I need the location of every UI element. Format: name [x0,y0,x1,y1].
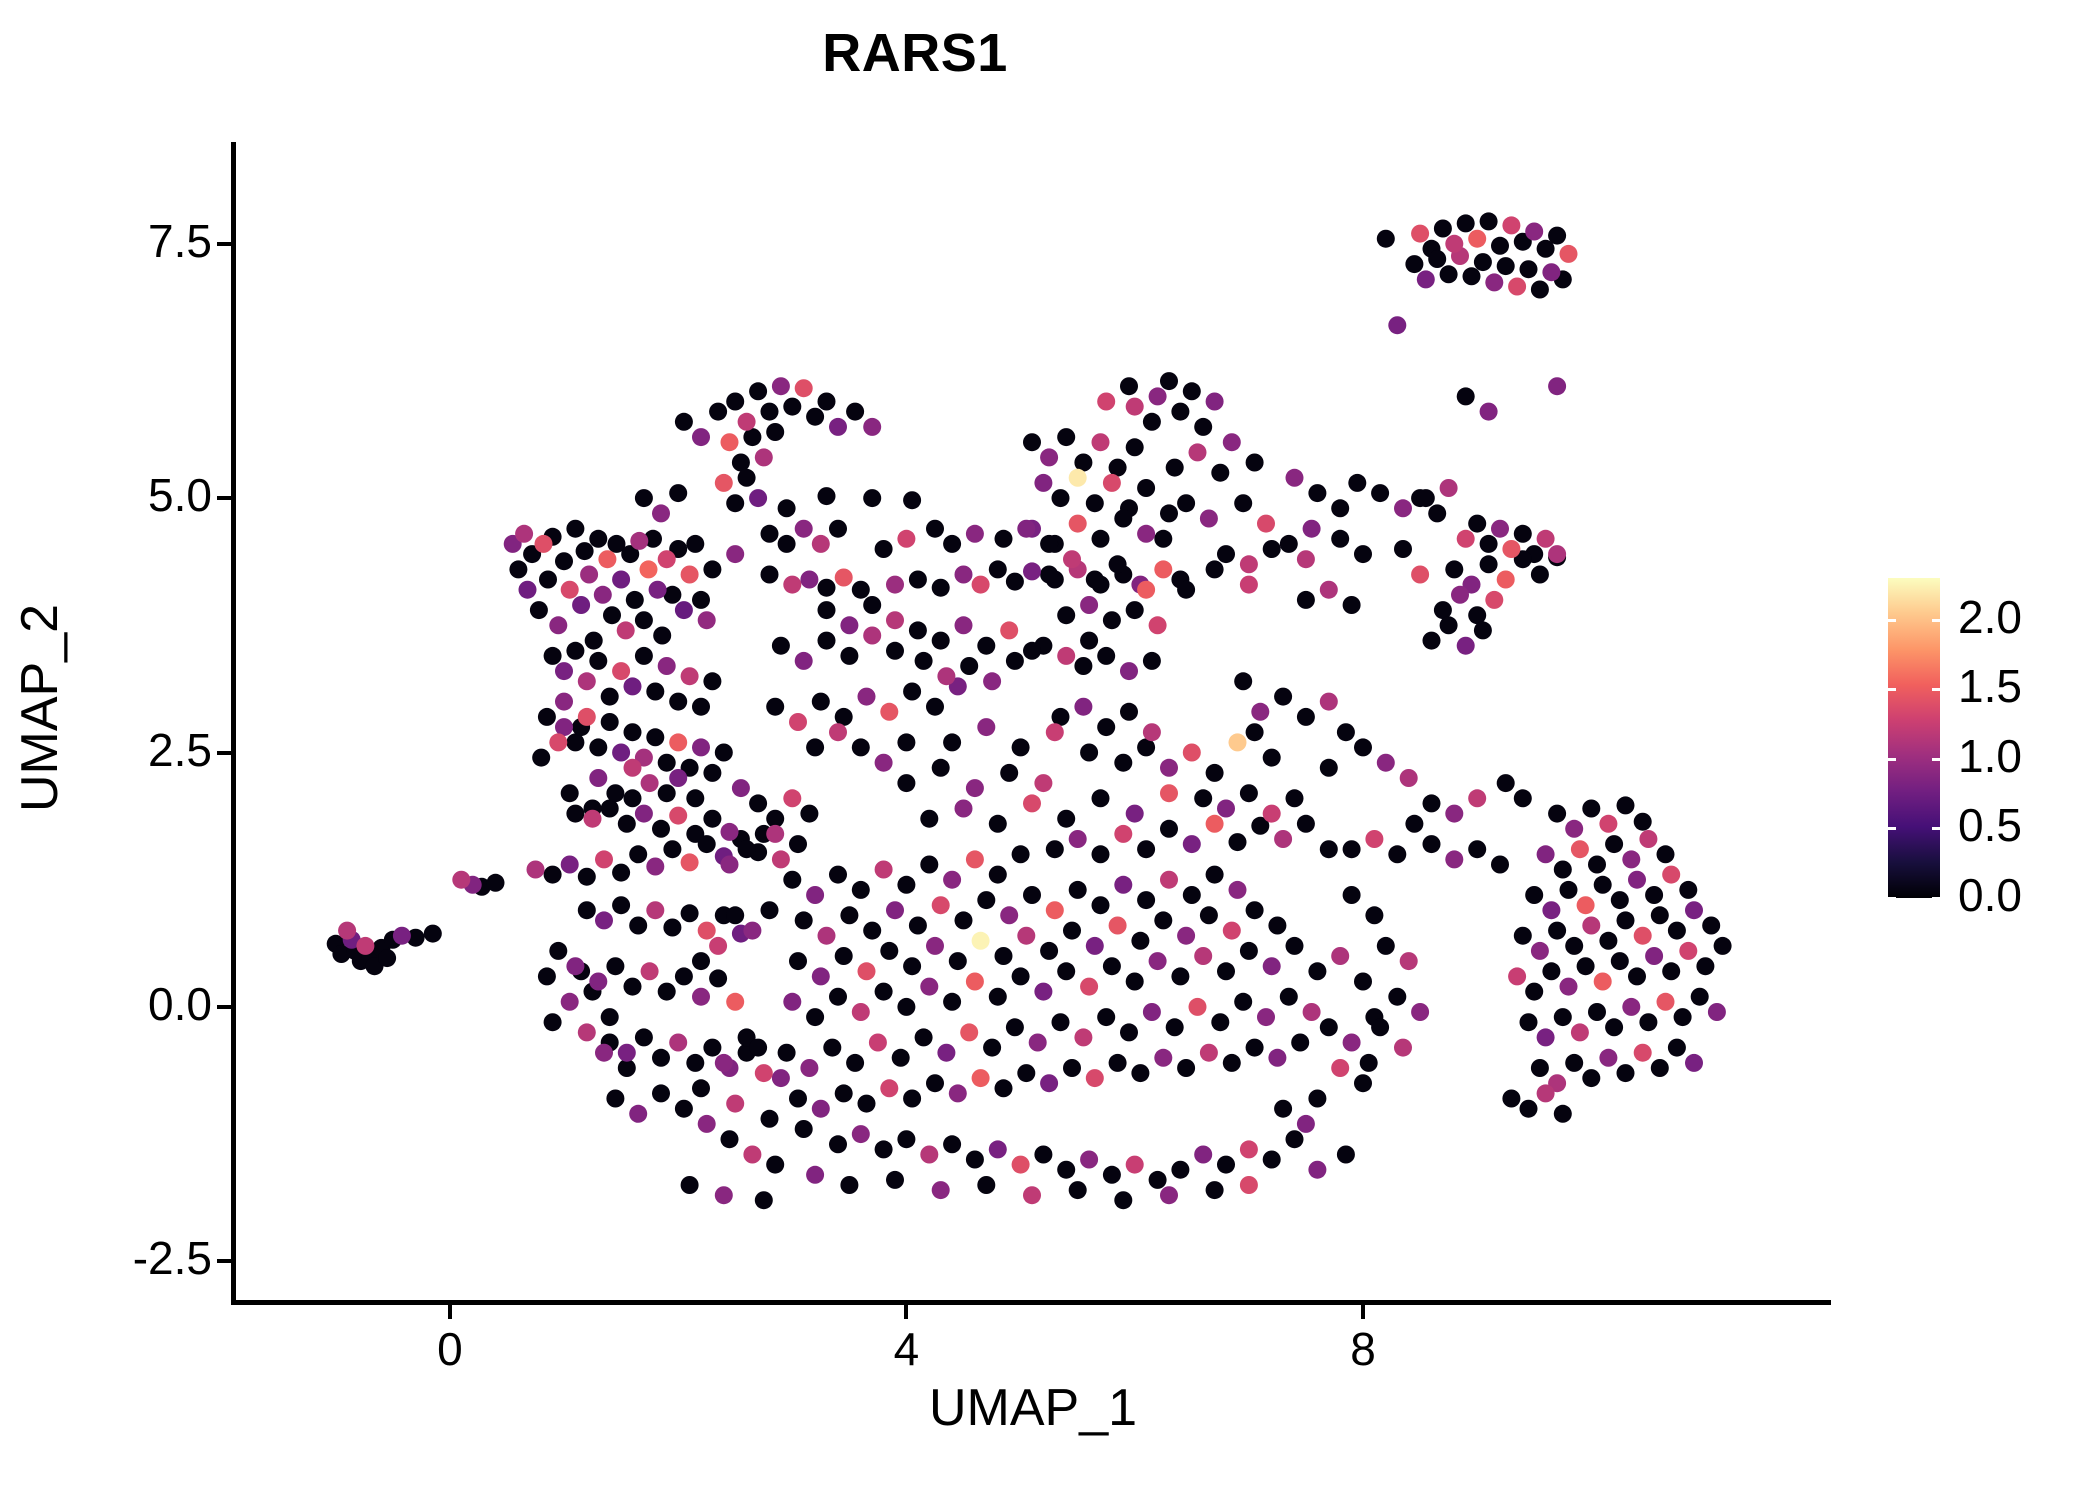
scatter-point [1206,764,1224,782]
scatter-point [1251,703,1269,721]
scatter-point [955,800,973,818]
scatter-point [800,571,818,589]
scatter-point [1052,1013,1070,1031]
scatter-point [1634,813,1652,831]
scatter-point [955,911,973,929]
scatter-point [1183,886,1201,904]
scatter-point [806,1008,824,1026]
scatter-point [1411,566,1429,584]
scatter-point [972,576,990,594]
scatter-point [589,530,607,548]
scatter-point [818,579,836,597]
scatter-point [1080,744,1098,762]
scatter-point [880,703,898,721]
scatter-point [1394,540,1412,558]
scatter-point [1057,647,1075,665]
scatter-point [1097,1008,1115,1026]
scatter-point [624,759,642,777]
scatter-point [880,942,898,960]
scatter-point [1103,957,1121,975]
scatter-point [504,535,522,553]
scatter-point [692,988,710,1006]
scatter-point [983,1039,1001,1057]
scatter-point [1114,1191,1132,1209]
scatter-point [1537,1028,1555,1046]
scatter-point [578,672,596,690]
scatter-point [1092,433,1110,451]
scatter-point [858,1095,876,1113]
scatter-point [932,632,950,650]
scatter-point [1537,240,1555,258]
scatter-point [589,738,607,756]
scatter-point [949,677,967,695]
scatter-point [1525,886,1543,904]
scatter-point [1206,815,1224,833]
scatter-point [580,566,598,584]
scatter-point [1400,952,1418,970]
scatter-point [1599,1049,1617,1067]
scatter-point [1423,632,1441,650]
scatter-point [535,535,553,553]
scatter-point [766,423,784,441]
scatter-point [897,998,915,1016]
scatter-point [1160,1186,1178,1204]
scatter-point [686,789,704,807]
scatter-point [840,906,858,924]
scatter-point [698,1115,716,1133]
scatter-point [1114,876,1132,894]
scatter-point [1639,830,1657,848]
scatter-point [897,1130,915,1148]
scatter-point [1331,530,1349,548]
scatter-point [812,693,830,711]
scatter-point [818,632,836,650]
scatter-point [1634,927,1652,945]
scatter-point [692,698,710,716]
scatter-point [1365,1008,1383,1026]
scatter-point [863,418,881,436]
scatter-point [1480,403,1498,421]
scatter-point [863,489,881,507]
scatter-point [1480,535,1498,553]
colorbar-tick-mark [1888,688,1896,691]
scatter-point [1588,856,1606,874]
scatter-point [1388,316,1406,334]
scatter-point [783,871,801,889]
scatter-point [715,906,733,924]
scatter-point [624,789,642,807]
scatter-point [1274,830,1292,848]
scatter-point [761,403,779,421]
scatter-point [795,911,813,929]
scatter-point [972,1069,990,1087]
scatter-point [1240,1140,1258,1158]
scatter-point [1679,881,1697,899]
scatter-point [1491,237,1509,255]
scatter-point [1034,474,1052,492]
scatter-point [966,525,984,543]
scatter-point [356,937,374,955]
scatter-point [1183,744,1201,762]
x-tick-label: 8 [1303,1322,1423,1376]
scatter-point [1006,1018,1024,1036]
scatter-point [584,810,602,828]
scatter-point [1497,774,1515,792]
scatter-point [681,853,699,871]
x-tick-mark [448,1305,452,1319]
scatter-point [1206,393,1224,411]
x-axis-line [231,1300,1831,1305]
scatter-point [1206,560,1224,578]
scatter-point [549,616,567,634]
scatter-point [863,596,881,614]
scatter-point [749,489,767,507]
scatter-point [658,983,676,1001]
scatter-point [1502,540,1520,558]
scatter-point [487,874,505,892]
scatter-point [1708,1003,1726,1021]
scatter-point [646,901,664,919]
scatter-point [1348,474,1366,492]
scatter-point [1320,581,1338,599]
scatter-point [595,911,613,929]
scatter-point [1320,1018,1338,1036]
scatter-point [1617,1064,1635,1082]
y-tick-label: 0.0 [148,977,212,1031]
scatter-point [1092,576,1110,594]
scatter-point [977,718,995,736]
scatter-point [1109,555,1127,573]
scatter-point [1109,459,1127,477]
scatter-point [1149,387,1167,405]
scatter-point [407,929,425,947]
scatter-point [1497,571,1515,589]
scatter-point [1497,257,1515,275]
scatter-point [1417,489,1435,507]
scatter-point [960,657,978,675]
scatter-point [1263,540,1281,558]
scatter-point [806,1166,824,1184]
scatter-point [726,545,744,563]
scatter-point [1012,967,1030,985]
scatter-point [1405,815,1423,833]
scatter-point [681,904,699,922]
scatter-point [1131,576,1149,594]
scatter-point [1069,469,1087,487]
scatter-point [1046,901,1064,919]
scatter-point [1092,530,1110,548]
scatter-point [1246,901,1264,919]
scatter-point [1480,212,1498,230]
scatter-point [1440,479,1458,497]
scatter-point [726,1095,744,1113]
scatter-point [1542,263,1560,281]
scatter-point [1137,840,1155,858]
scatter-point [1177,1059,1195,1077]
scatter-point [995,947,1013,965]
scatter-point [1023,1186,1041,1204]
scatter-point [989,1140,1007,1158]
scatter-point [1057,606,1075,624]
scatter-point [1388,988,1406,1006]
scatter-point [1131,1064,1149,1082]
scatter-point [1154,911,1172,929]
scatter-point [589,652,607,670]
scatter-point [1548,227,1566,245]
scatter-point [669,733,687,751]
scatter-point [594,586,612,604]
scatter-point [755,825,773,843]
scatter-point [1274,1100,1292,1118]
scatter-point [629,845,647,863]
scatter-point [626,591,644,609]
scatter-point [795,520,813,538]
scatter-point [1143,1003,1161,1021]
scatter-point [778,1044,796,1062]
scatter-point [818,927,836,945]
scatter-point [1160,784,1178,802]
scatter-point [1217,962,1235,980]
scatter-point [1400,769,1418,787]
scatter-point [743,428,761,446]
scatter-point [669,693,687,711]
scatter-point [1668,1039,1686,1057]
scatter-point [539,571,557,589]
scatter-point [966,850,984,868]
scatter-point [1177,494,1195,512]
scatter-point [532,749,550,767]
scatter-point [1114,510,1132,528]
scatter-point [1354,738,1372,756]
scatter-point [1411,1003,1429,1021]
scatter-point [755,1064,773,1082]
scatter-point [473,878,491,896]
scatter-point [749,794,767,812]
scatter-point [1017,1064,1035,1082]
scatter-point [352,952,370,970]
colorbar-legend: 2.01.51.00.50.0 [1888,578,2078,908]
scatter-point [846,403,864,421]
scatter-point [1160,820,1178,838]
scatter-point [346,942,364,960]
scatter-point [738,469,756,487]
scatter-point [1023,520,1041,538]
scatter-point [1371,1018,1389,1036]
scatter-point [578,901,596,919]
scatter-point [1474,621,1492,639]
scatter-point [1149,616,1167,634]
scatter-point [566,642,584,660]
scatter-point [669,1034,687,1052]
scatter-point [949,1084,967,1102]
scatter-point [1023,433,1041,451]
scatter-point [886,576,904,594]
scatter-point [1160,759,1178,777]
scatter-point [909,917,927,935]
scatter-point [1183,835,1201,853]
scatter-point [1565,937,1583,955]
scatter-point [840,616,858,634]
scatter-point [698,835,716,853]
scatter-point [1445,805,1463,823]
scatter-point [561,993,579,1011]
colorbar-tick-mark [1888,897,1896,900]
colorbar-tick-mark [1932,688,1940,691]
scatter-point [1046,840,1064,858]
scatter-point [1554,270,1572,288]
scatter-point [1034,1146,1052,1164]
scatter-point [372,939,390,957]
scatter-point [452,871,470,889]
scatter-point [703,810,721,828]
scatter-point [549,942,567,960]
x-axis-label: UMAP_1 [233,1378,1833,1438]
scatter-point [644,530,662,548]
scatter-point [1377,754,1395,772]
scatter-point [840,647,858,665]
scatter-point [983,672,1001,690]
scatter-point [1092,845,1110,863]
scatter-point [1097,393,1115,411]
scatter-point [1263,749,1281,767]
scatter-point [995,1079,1013,1097]
scatter-point [1194,418,1212,436]
scatter-point [681,759,699,777]
scatter-point [937,667,955,685]
scatter-point [598,550,616,568]
scatter-point [1246,454,1264,472]
scatter-point [1514,927,1532,945]
scatter-point [852,738,870,756]
scatter-point [1303,1003,1321,1021]
scatter-point [1297,591,1315,609]
scatter-point [1337,723,1355,741]
scatter-point [1223,922,1241,940]
scatter-point [903,957,921,975]
scatter-point [1160,504,1178,522]
scatter-point [703,560,721,578]
scatter-point [1149,952,1167,970]
scatter-point [1554,1105,1572,1123]
scatter-point [1126,973,1144,991]
scatter-point [1120,499,1138,517]
y-tick-label: 5.0 [148,468,212,522]
scatter-point [1696,957,1714,975]
scatter-point [1074,454,1092,472]
scatter-point [1154,560,1172,578]
scatter-point [943,733,961,751]
scatter-point [966,779,984,797]
colorbar-tick-label: 1.0 [1958,729,2022,783]
scatter-point [1057,428,1075,446]
scatter-point [1394,1039,1412,1057]
scatter-point [1137,891,1155,909]
scatter-point [1194,789,1212,807]
scatter-point [1120,662,1138,680]
scatter-point [1149,1171,1167,1189]
scatter-points-layer [0,0,2100,1500]
scatter-point [1086,494,1104,512]
scatter-point [1126,438,1144,456]
scatter-point [1286,469,1304,487]
scatter-point [766,1156,784,1174]
scatter-point [1103,611,1121,629]
scatter-point [709,403,727,421]
scatter-point [1445,850,1463,868]
scatter-point [783,993,801,1011]
scatter-point [721,856,739,874]
scatter-point [576,542,594,560]
scatter-point [1023,794,1041,812]
scatter-point [608,535,626,553]
scatter-point [789,835,807,853]
scatter-point [635,611,653,629]
scatter-point [624,978,642,996]
scatter-point [519,581,537,599]
scatter-point [1468,606,1486,624]
scatter-point [1303,520,1321,538]
scatter-point [1571,840,1589,858]
scatter-point [995,530,1013,548]
scatter-point [715,1186,733,1204]
scatter-point [937,1044,955,1062]
scatter-point [681,667,699,685]
scatter-point [675,601,693,619]
scatter-point [1548,922,1566,940]
scatter-point [1617,796,1635,814]
x-tick-label: 0 [390,1322,510,1376]
scatter-point [584,983,602,1001]
scatter-point [1440,616,1458,634]
scatter-point [749,382,767,400]
scatter-point [1234,993,1252,1011]
scatter-point [835,708,853,726]
scatter-point [1377,937,1395,955]
scatter-point [1154,530,1172,548]
scatter-point [926,520,944,538]
scatter-point [635,805,653,823]
scatter-point [766,810,784,828]
scatter-point [1006,652,1024,670]
scatter-point [595,1044,613,1062]
scatter-point [1240,555,1258,573]
scatter-point [1617,911,1635,929]
scatter-point [703,672,721,690]
y-tick-label: 2.5 [148,723,212,777]
scatter-point [1354,973,1372,991]
scatter-point [743,1146,761,1164]
scatter-point [1622,850,1640,868]
scatter-point [909,571,927,589]
scatter-point [960,1023,978,1041]
scatter-point [1040,566,1058,584]
scatter-point [755,448,773,466]
scatter-point [1000,764,1018,782]
scatter-point [1057,1161,1075,1179]
colorbar-tick-mark [1932,758,1940,761]
scatter-point [635,647,653,665]
scatter-point [692,591,710,609]
scatter-point [812,967,830,985]
scatter-point [761,566,779,584]
scatter-point [589,769,607,787]
scatter-point [1126,601,1144,619]
scatter-point [555,552,573,570]
scatter-point [1114,754,1132,772]
scatter-point [1103,474,1121,492]
scatter-point [709,969,727,987]
scatter-point [1092,896,1110,914]
